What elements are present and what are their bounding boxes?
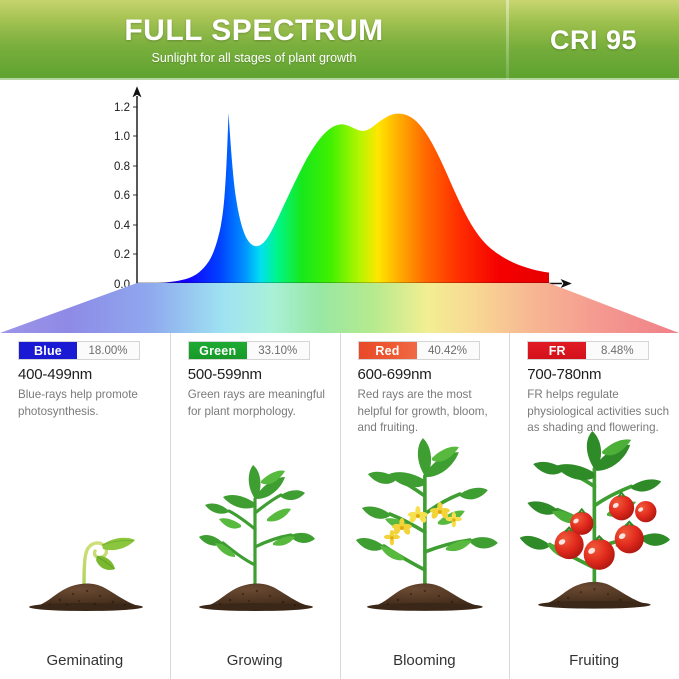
svg-text:0.6: 0.6: [114, 190, 130, 202]
badge-label-fr: FR: [528, 342, 586, 359]
young-plant-svg: [175, 447, 335, 637]
plant-illustration-young-plant: [170, 447, 340, 637]
panel-red: Red 40.42% 600-699nm Red rays are the mo…: [340, 333, 510, 679]
spectrum-curve: [137, 113, 549, 284]
badge-label-red: Red: [359, 342, 417, 359]
wavelength-range-green: 500-599nm: [188, 366, 262, 383]
plant-illustration-fruiting-plant: [509, 447, 679, 637]
y-axis-tick-labels: 1.2 1.0 0.8 0.6 0.4 0.2 0.0: [114, 102, 131, 291]
wavelength-range-blue: 400-499nm: [18, 366, 92, 383]
light-spread-fan: [0, 283, 679, 333]
wavelength-range-red: 600-699nm: [358, 366, 432, 383]
header-banner: FULL SPECTRUM Sunlight for all stages of…: [0, 0, 679, 80]
badge-green: Green 33.10%: [188, 341, 310, 360]
badge-red: Red 40.42%: [358, 341, 480, 360]
spectrum-panels: Blue 18.00% 400-499nm Blue-rays help pro…: [0, 333, 679, 679]
svg-text:0.8: 0.8: [114, 161, 130, 173]
wavelength-range-fr: 700-780nm: [527, 366, 601, 383]
badge-blue: Blue 18.00%: [18, 341, 140, 360]
page-subtitle: Sunlight for all stages of plant growth: [152, 51, 357, 65]
plant-illustration-flowering-plant: [340, 447, 510, 637]
badge-percent-blue: 18.00%: [77, 342, 139, 359]
stage-label-blooming: Blooming: [340, 652, 510, 669]
description-blue: Blue-rays help promote photosynthesis.: [18, 387, 162, 420]
badge-percent-green: 33.10%: [247, 342, 309, 359]
fan-svg: [0, 283, 679, 333]
fruiting-plant-svg: [509, 427, 679, 637]
svg-text:1.0: 1.0: [114, 131, 130, 143]
badge-label-blue: Blue: [19, 342, 77, 359]
fan-polygon: [0, 283, 679, 333]
panel-fr: FR 8.48% 700-780nm FR helps regulate phy…: [509, 333, 679, 679]
tomato-cluster: [555, 491, 657, 570]
page-title: FULL SPECTRUM: [124, 15, 383, 47]
cri-block: CRI 95: [508, 0, 679, 80]
svg-text:1.2: 1.2: [114, 102, 130, 114]
svg-text:0.2: 0.2: [114, 249, 130, 261]
stage-label-growing: Growing: [170, 652, 340, 669]
panel-blue: Blue 18.00% 400-499nm Blue-rays help pro…: [0, 333, 170, 679]
badge-percent-fr: 8.48%: [586, 342, 648, 359]
cri-value: CRI 95: [550, 25, 637, 56]
description-red: Red rays are the most helpful for growth…: [358, 387, 502, 437]
seedling-svg: [5, 457, 165, 637]
description-green: Green rays are meaningful for plant morp…: [188, 387, 332, 420]
title-block: FULL SPECTRUM Sunlight for all stages of…: [0, 0, 508, 80]
stage-label-fruiting: Fruiting: [509, 652, 679, 669]
badge-percent-red: 40.42%: [417, 342, 479, 359]
panel-green: Green 33.10% 500-599nm Green rays are me…: [170, 333, 340, 679]
stage-label-geminating: Geminating: [0, 652, 170, 669]
badge-label-green: Green: [189, 342, 247, 359]
flowering-plant-svg: [340, 432, 510, 637]
svg-text:0.4: 0.4: [114, 220, 131, 232]
badge-fr: FR 8.48%: [527, 341, 649, 360]
plant-illustration-seedling: [0, 447, 170, 637]
